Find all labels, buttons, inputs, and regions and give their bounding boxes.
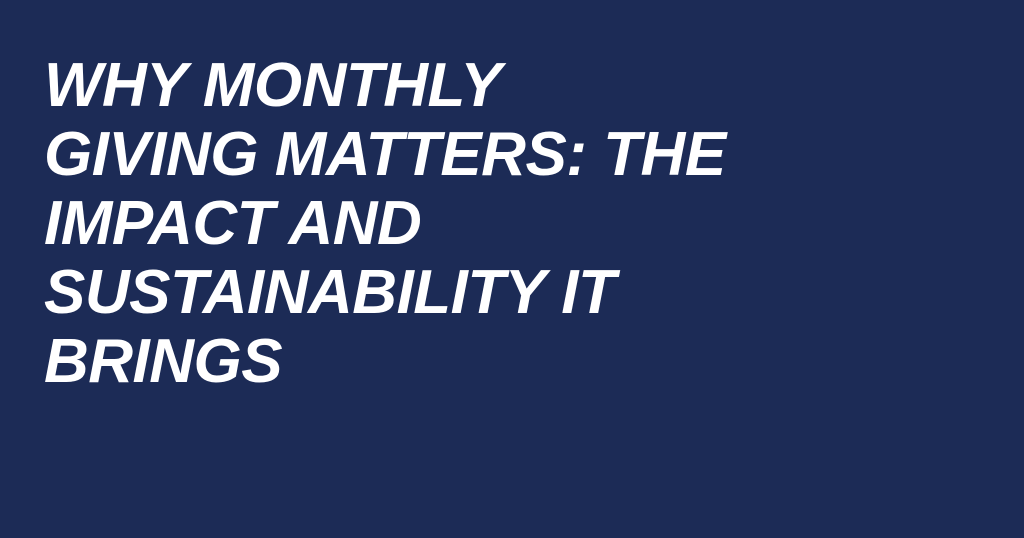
- title-line-2: GIVING MATTERS: THE: [44, 120, 944, 189]
- title-line-5: BRINGS: [44, 327, 944, 396]
- title-line-1: WHY MONTHLY: [44, 51, 944, 120]
- title-line-3: IMPACT AND: [44, 189, 944, 258]
- title-card: WHY MONTHLY GIVING MATTERS: THE IMPACT A…: [0, 0, 1024, 538]
- title-line-4: SUSTAINABILITY IT: [44, 258, 944, 327]
- page-title: WHY MONTHLY GIVING MATTERS: THE IMPACT A…: [44, 51, 944, 396]
